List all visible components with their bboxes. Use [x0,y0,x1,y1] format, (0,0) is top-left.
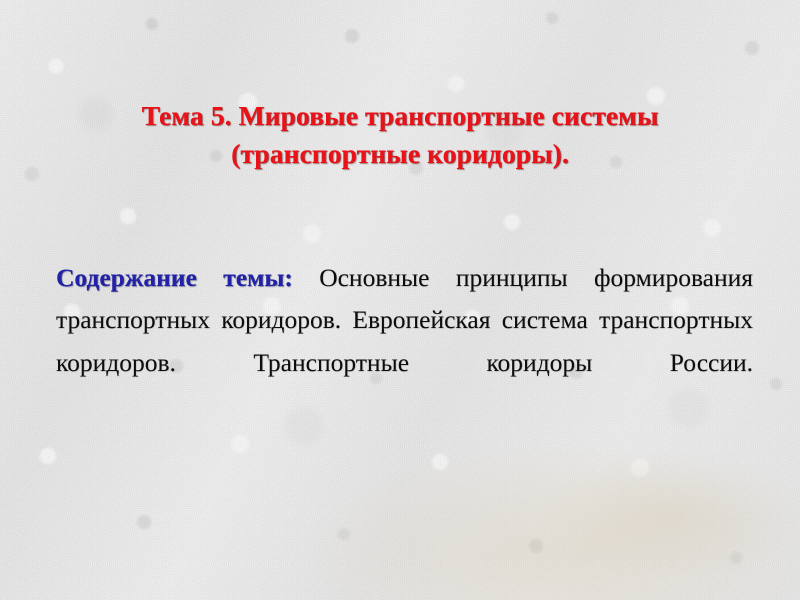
slide-title-line-1: Тема 5. Мировые транспортные системы [60,97,740,135]
slide-canvas: Тема 5. Мировые транспортные системы (тр… [0,0,800,600]
slide-title-line-2: (транспортные коридоры). [60,135,740,173]
slide-content: Тема 5. Мировые транспортные системы (тр… [0,0,800,600]
slide-body-paragraph: Содержание темы: Основные принципы форми… [56,257,753,427]
body-lead-label: Содержание темы: [56,263,293,292]
slide-title: Тема 5. Мировые транспортные системы (тр… [60,97,740,173]
